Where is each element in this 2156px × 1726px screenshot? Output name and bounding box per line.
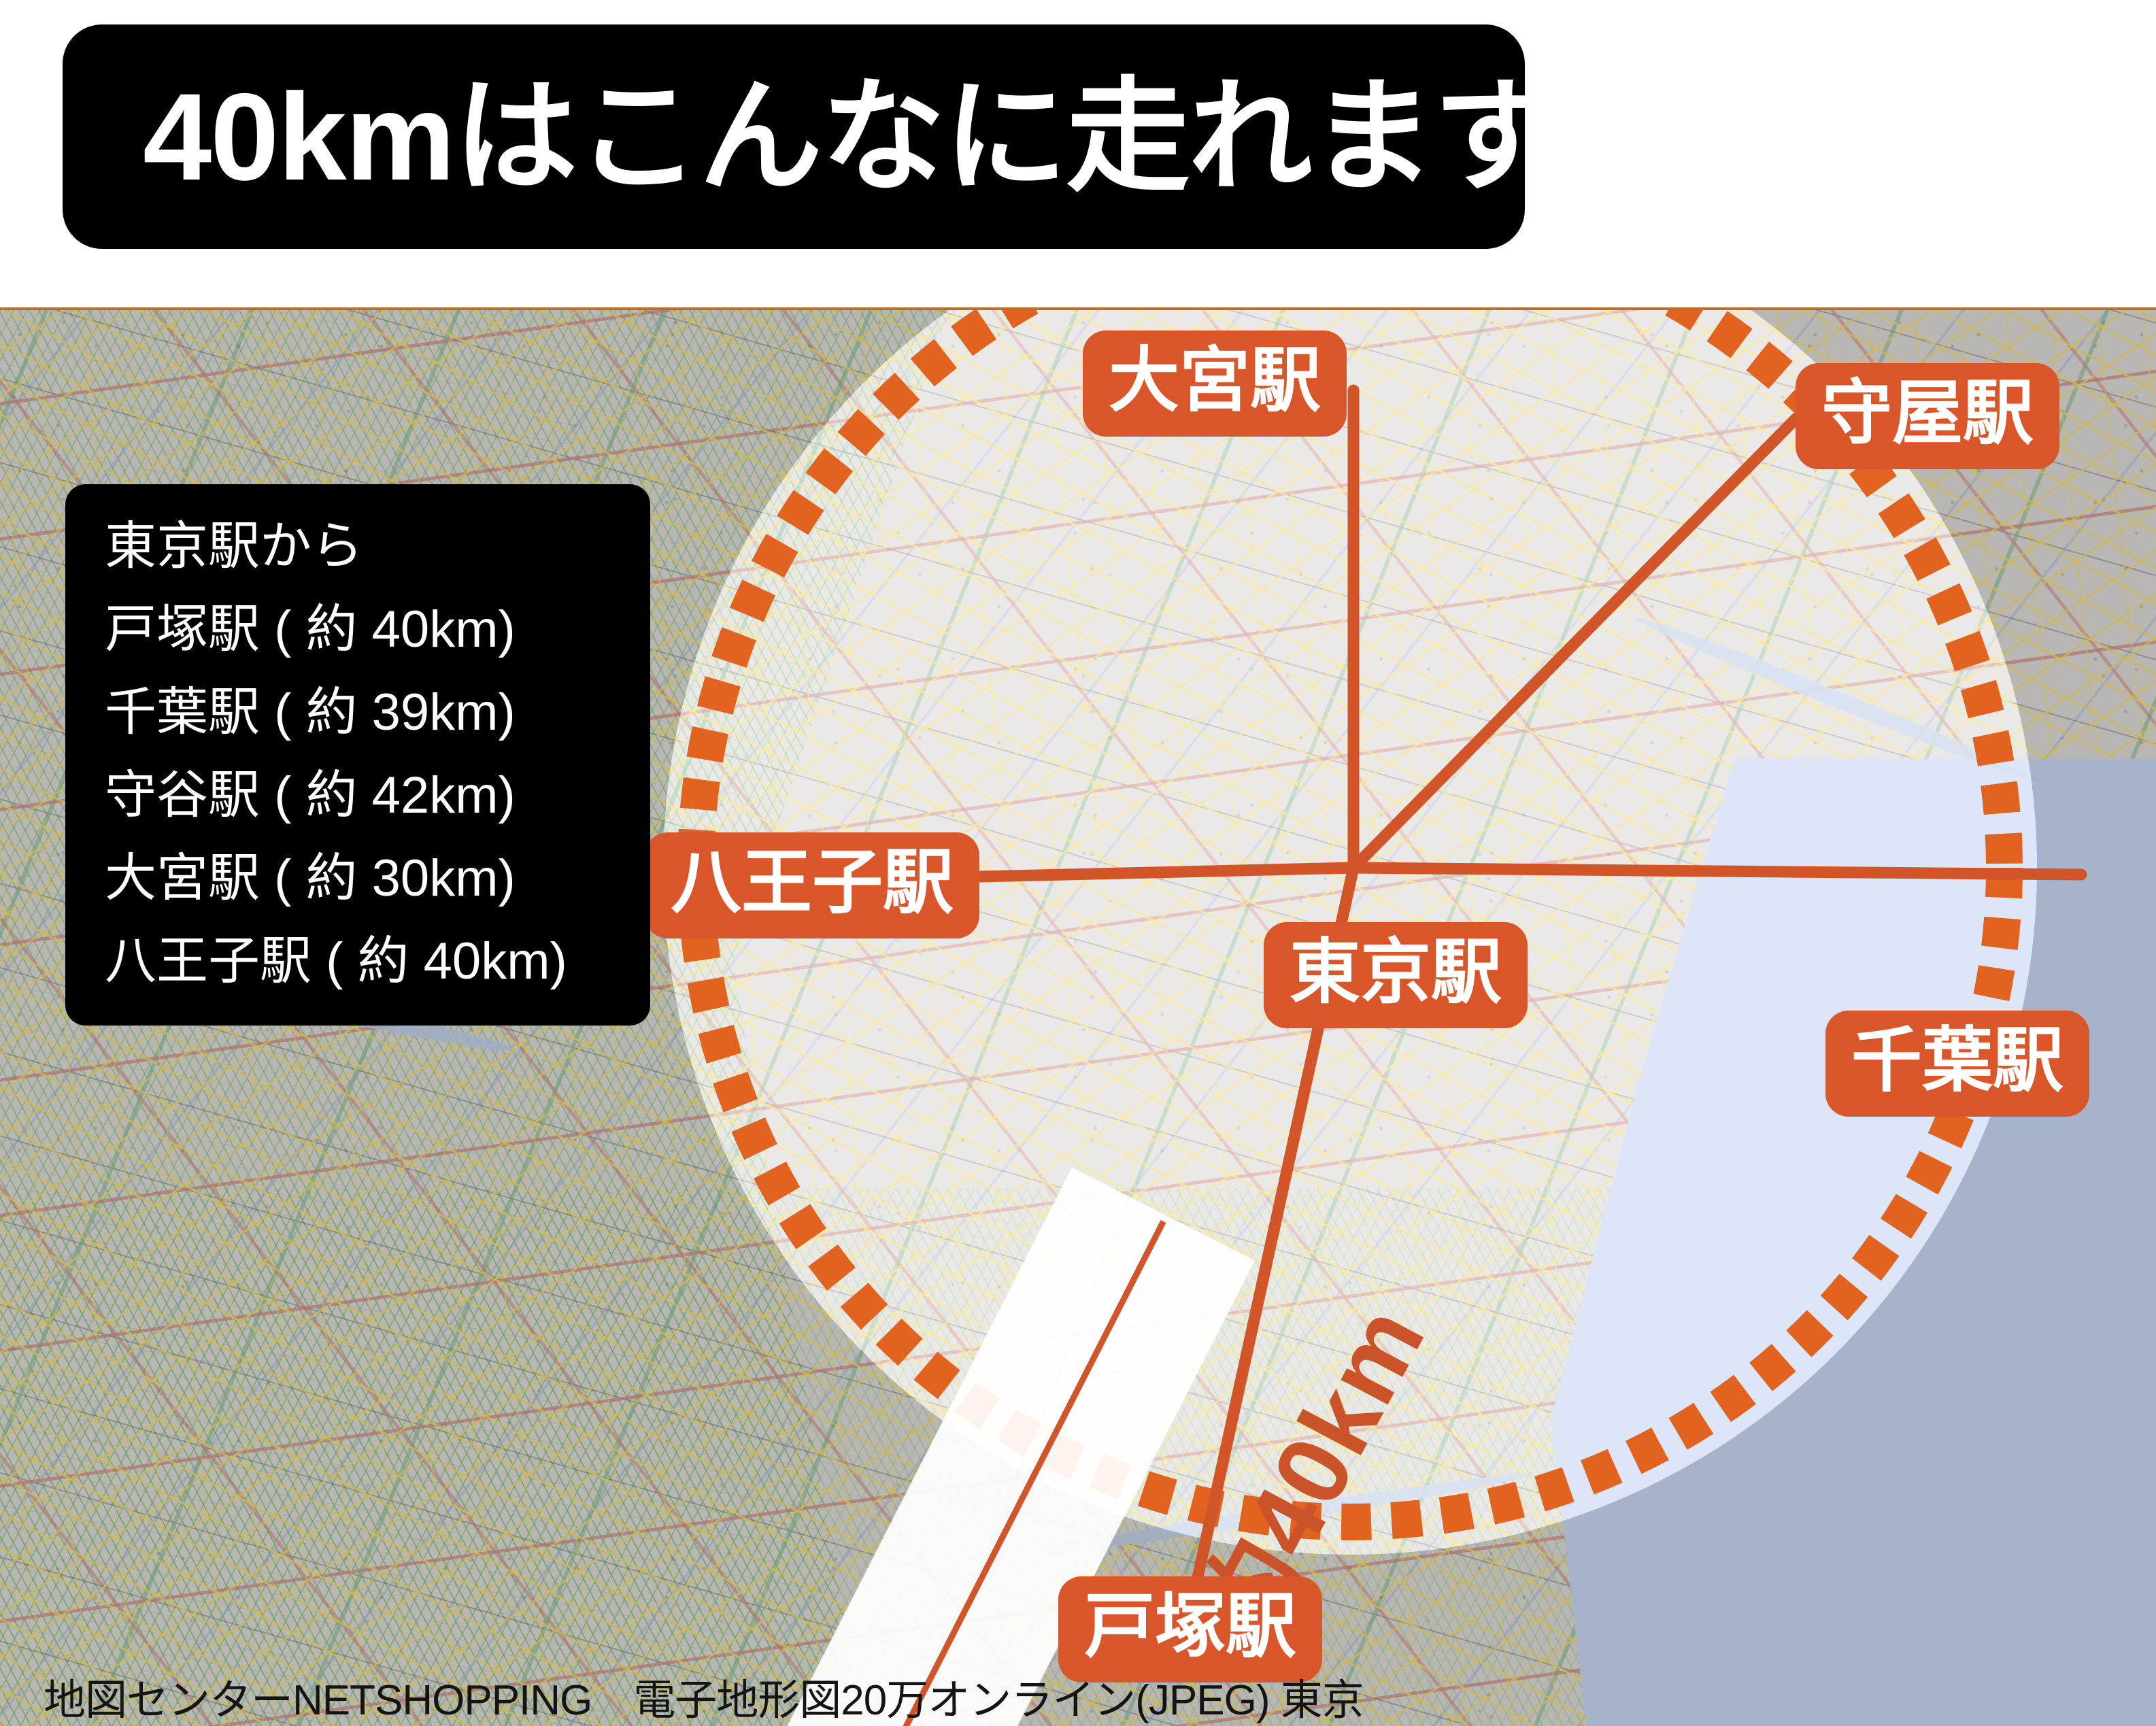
distance-legend-panel: 東京駅から 戸塚駅 ( 約 40km) 千葉駅 ( 約 39km) 守谷駅 ( … — [65, 484, 650, 1026]
station-pin-omiya[interactable]: 大宮駅 — [1083, 331, 1347, 437]
legend-row-totsuka: 戸塚駅 ( 約 40km) — [65, 604, 650, 687]
station-pin-totsuka[interactable]: 戸塚駅 — [1058, 1576, 1322, 1682]
station-pin-moriya[interactable]: 守屋駅 — [1796, 363, 2059, 469]
legend-row-chiba: 千葉駅 ( 約 39km) — [65, 687, 650, 770]
station-pin-tokyo[interactable]: 東京駅 — [1264, 922, 1528, 1028]
legend-row-moriya: 守谷駅 ( 約 42km) — [65, 770, 650, 853]
map-credit-text: 地図センターNETSHOPPING 電子地形図20万オンライン(JPEG) 東京 — [44, 1680, 1364, 1722]
page-title: 40kmはこんなに走れます！！ — [63, 75, 1801, 199]
title-card: 40kmはこんなに走れます！！ — [63, 24, 1525, 249]
station-pin-chiba[interactable]: 千葉駅 — [1825, 1011, 2089, 1117]
legend-heading: 東京駅から — [65, 514, 650, 604]
legend-row-hachioji: 八王子駅 ( 約 40km) — [65, 936, 650, 987]
station-pin-hachioji[interactable]: 八王子駅 — [645, 832, 979, 938]
legend-row-omiya: 大宮駅 ( 約 30km) — [65, 853, 650, 936]
